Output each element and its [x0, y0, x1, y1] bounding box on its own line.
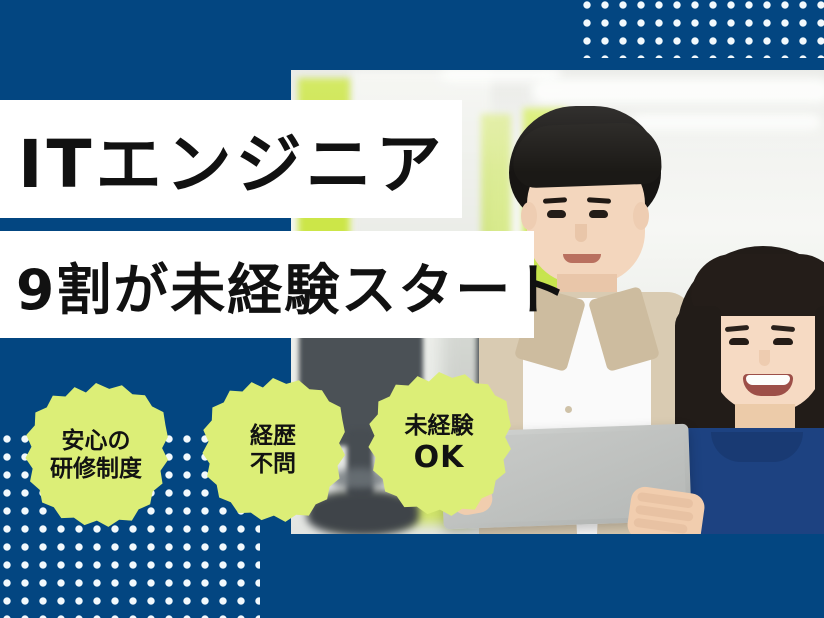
- badge-line-2: 研修制度: [50, 455, 142, 483]
- badge-line-1: 未経験: [405, 412, 474, 440]
- headline-box-primary: ITエンジニア: [0, 100, 462, 218]
- badge-training-program: 安心の 研修制度: [24, 383, 168, 527]
- badge-line-2: OK: [414, 440, 465, 477]
- headline-line-2: 9割が未経験スタート: [0, 245, 569, 325]
- ceiling-light-icon: [531, 78, 824, 104]
- headline-box-secondary: 9割が未経験スタート: [0, 231, 534, 338]
- man-shirt-button: [565, 406, 572, 413]
- badge-line-1: 安心の: [62, 427, 131, 455]
- person-woman: [669, 246, 824, 534]
- man-eye: [547, 210, 566, 218]
- headline-line-1: ITエンジニア: [0, 111, 446, 207]
- badge-no-background-required: 経歴 不問: [201, 378, 345, 522]
- woman-eye: [773, 338, 793, 345]
- dot-pattern-top-right-icon: [578, 0, 824, 58]
- man-ear: [521, 202, 537, 230]
- recruitment-banner: ITエンジニア 9割が未経験スタート 安心の 研修制度 経歴 不問 未経験 OK: [0, 0, 824, 618]
- badge-line-1: 経歴: [250, 422, 296, 450]
- man-eye: [589, 210, 608, 218]
- woman-teeth: [746, 375, 790, 385]
- man-fringe: [512, 121, 662, 188]
- man-nose: [575, 224, 587, 242]
- woman-eye: [729, 338, 749, 345]
- man-ear: [633, 202, 649, 230]
- badge-line-2: 不問: [250, 450, 296, 478]
- woman-nose: [759, 350, 770, 366]
